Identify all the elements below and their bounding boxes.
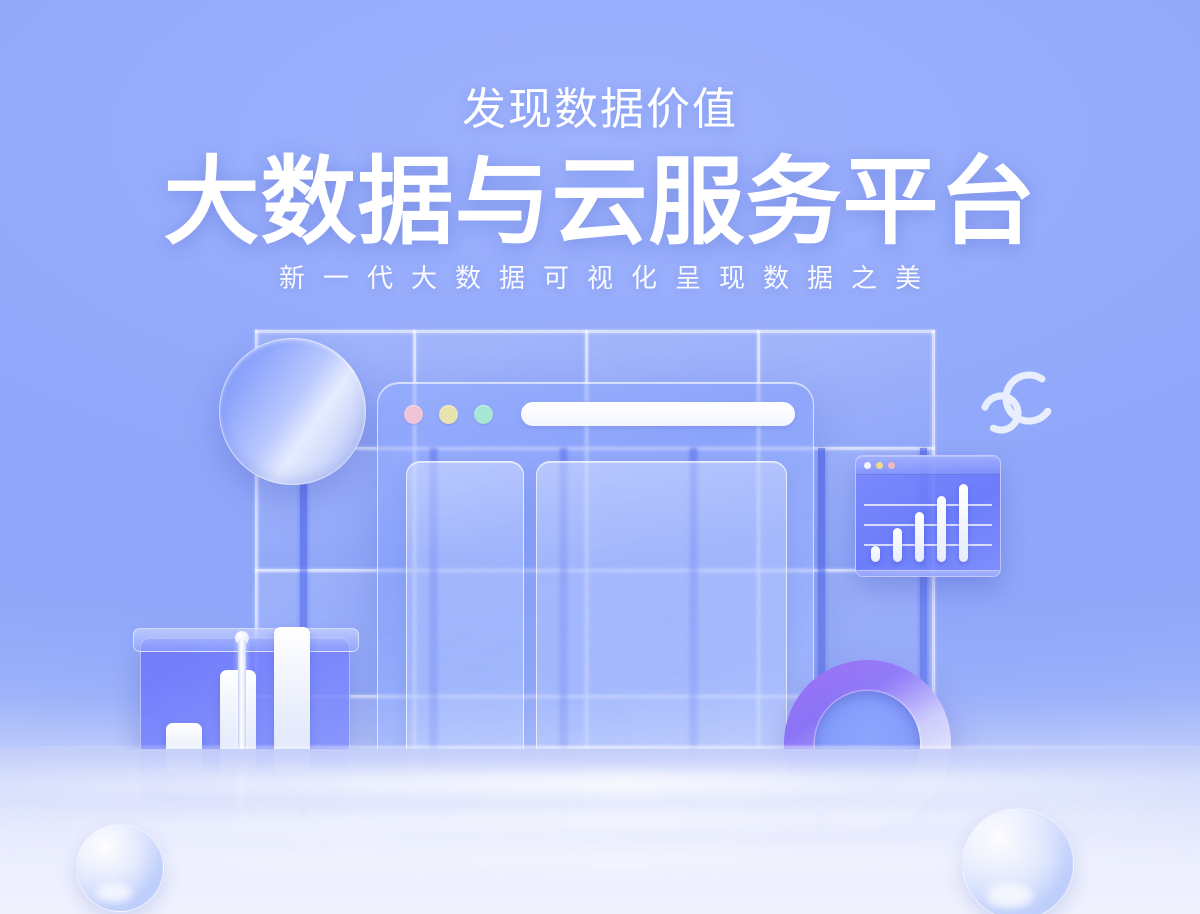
browser-titlebar <box>378 383 813 445</box>
dot-yellow-icon[interactable] <box>439 405 458 424</box>
glass-sphere-right <box>962 808 1074 914</box>
hero-banner: 发现数据价值 大数据与云服务平台 新一代大数据可视化呈现数据之美 <box>0 0 1200 914</box>
mini-gridline <box>864 504 992 506</box>
page-title: 大数据与云服务平台 <box>0 154 1200 252</box>
mini-bar-2 <box>893 528 902 562</box>
url-bar[interactable] <box>521 402 795 426</box>
mini-gridline <box>864 544 992 546</box>
mini-window-footer <box>855 570 1001 577</box>
mini-bar-1 <box>871 546 880 562</box>
hero-text-block: 发现数据价值 大数据与云服务平台 新一代大数据可视化呈现数据之美 <box>0 0 1200 292</box>
mini-bar-3 <box>915 512 924 562</box>
glass-disc <box>219 338 366 485</box>
dot-green-icon[interactable] <box>474 405 493 424</box>
hero-eyebrow: 发现数据价值 <box>0 88 1200 132</box>
mini-bar-5 <box>959 484 968 562</box>
glass-sphere-left <box>76 824 164 912</box>
mini-window-titlebar <box>856 456 1000 475</box>
hero-tagline: 新一代大数据可视化呈现数据之美 <box>0 266 1200 292</box>
mini-dot-white-icon[interactable] <box>864 462 871 469</box>
dot-red-icon[interactable] <box>404 405 423 424</box>
mini-gridline <box>864 524 992 526</box>
cloud-icon <box>975 368 1063 440</box>
mini-dot-yellow-icon[interactable] <box>876 462 883 469</box>
mini-dot-pink-icon[interactable] <box>888 462 895 469</box>
mini-bar-chart-window[interactable] <box>855 455 1001 577</box>
mini-bar-4 <box>937 496 946 562</box>
